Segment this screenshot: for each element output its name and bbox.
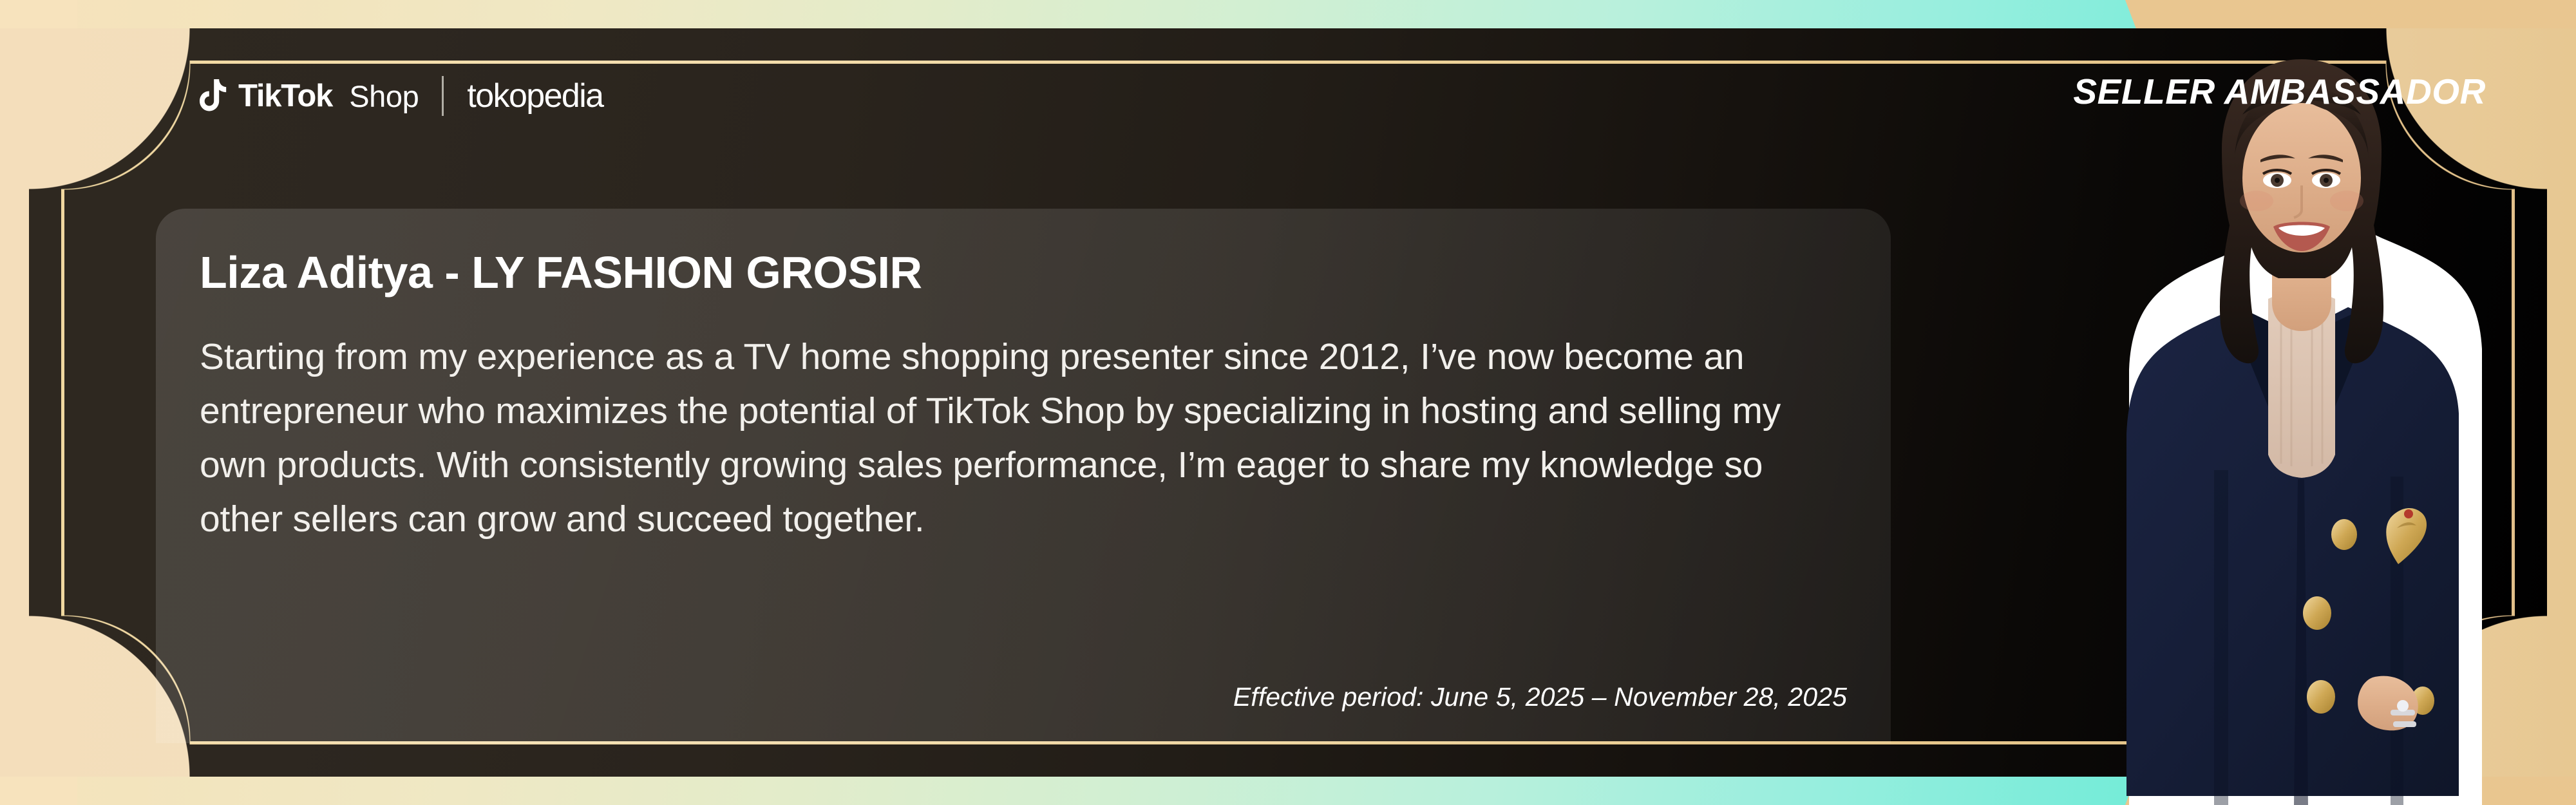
seller-ambassador-label: SELLER AMBASSADOR: [2073, 71, 2486, 112]
ambassador-bio-text: Starting from my experience as a TV home…: [200, 330, 1848, 546]
tiktok-wordmark: TikTok: [238, 80, 332, 112]
seller-ambassador-banner: TikTok Shop tokopedia SELLER AMBASSADOR …: [0, 0, 2576, 805]
ring-stone: [2397, 700, 2409, 712]
shop-wordmark: Shop: [349, 81, 419, 111]
seller-ambassador-portrait: [2088, 26, 2500, 805]
brand-lockup: TikTok Shop tokopedia: [200, 76, 603, 116]
brand-divider: [442, 76, 444, 116]
tiktok-note-icon: [200, 79, 229, 113]
ring: [2393, 721, 2416, 727]
ambassador-content-card: Liza Aditya - LY FASHION GROSIR Starting…: [156, 209, 1891, 743]
page-title: Liza Aditya - LY FASHION GROSIR: [200, 249, 922, 296]
effective-period-text: Effective period: June 5, 2025 – Novembe…: [1233, 682, 1847, 712]
tokopedia-wordmark: tokopedia: [467, 79, 603, 113]
tiktok-shop-logo: TikTok Shop: [200, 79, 419, 113]
